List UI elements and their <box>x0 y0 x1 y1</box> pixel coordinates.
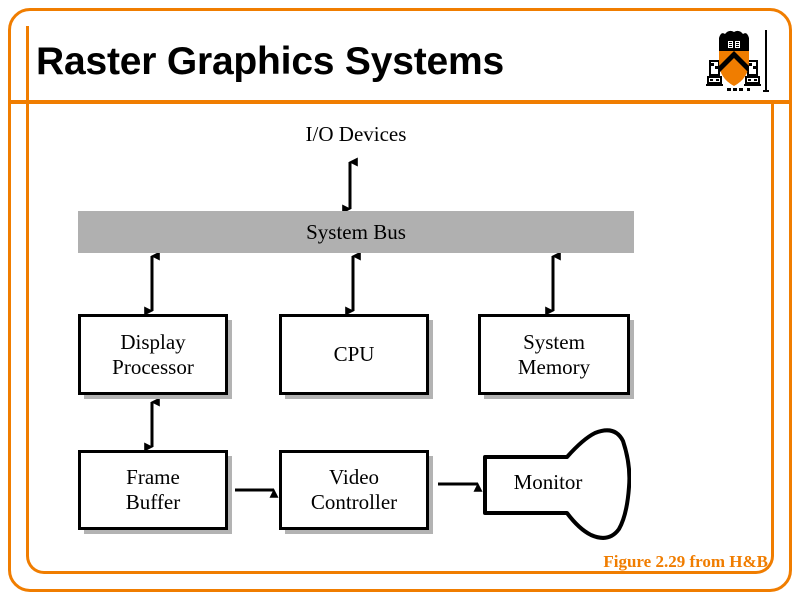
node-system-memory-line2: Memory <box>518 355 590 380</box>
node-display-processor-line2: Processor <box>112 355 194 380</box>
node-video-controller-line1: Video <box>311 465 397 490</box>
node-system-bus-label: System Bus <box>306 220 406 245</box>
slide-frame-inner-top-stub <box>26 26 29 104</box>
node-display-processor-line1: Display <box>112 330 194 355</box>
header-divider <box>10 100 790 104</box>
node-cpu: CPU <box>279 314 429 395</box>
node-frame-buffer-line1: Frame <box>126 465 180 490</box>
slide-root: Raster Graphics Systems <box>0 0 800 600</box>
node-system-memory: System Memory <box>478 314 630 395</box>
princeton-shield-logo <box>703 26 775 100</box>
node-display-processor: Display Processor <box>78 314 228 395</box>
figure-caption: Figure 2.29 from H&B <box>603 552 768 572</box>
page-title: Raster Graphics Systems <box>36 39 504 85</box>
node-system-memory-line1: System <box>518 330 590 355</box>
node-frame-buffer: Frame Buffer <box>78 450 228 530</box>
node-frame-buffer-line2: Buffer <box>126 490 180 515</box>
node-cpu-label: CPU <box>334 342 375 367</box>
node-video-controller: Video Controller <box>279 450 429 530</box>
node-monitor-label: Monitor <box>483 470 613 495</box>
node-io-devices: I/O Devices <box>290 122 422 147</box>
node-system-bus: System Bus <box>78 211 634 253</box>
node-video-controller-line2: Controller <box>311 490 397 515</box>
